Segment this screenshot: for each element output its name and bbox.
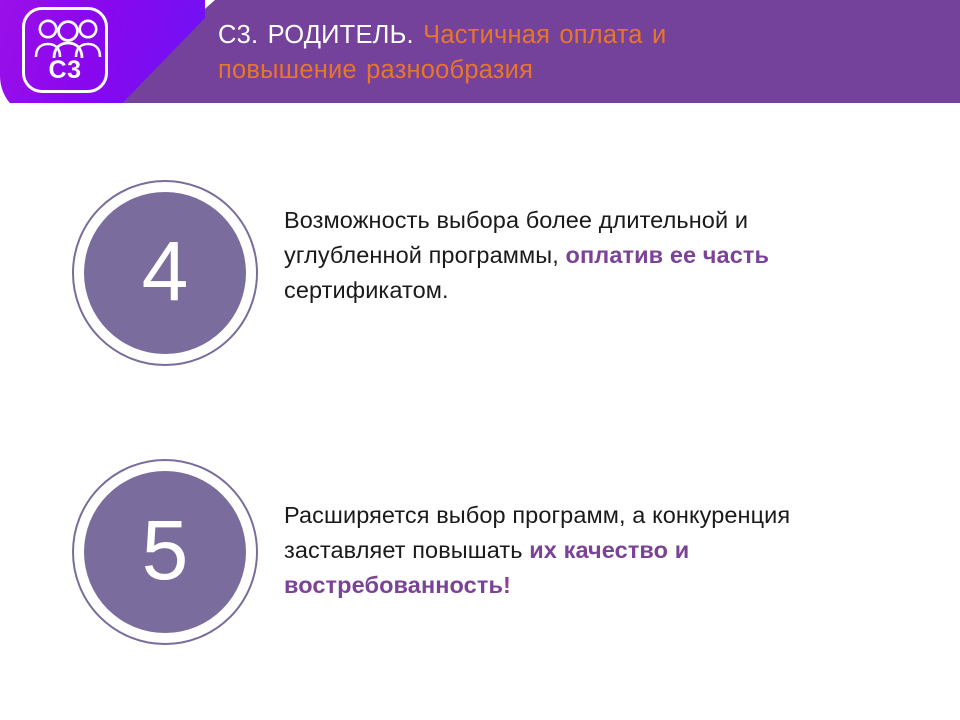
content-block-4-text: Возможность выбора более длительной и уг… [284, 203, 864, 308]
number-badge-5: 5 [72, 459, 258, 645]
number-badge-label: 5 [142, 508, 189, 592]
number-badge-disc: 4 [84, 192, 246, 354]
group-people-icon [34, 18, 102, 58]
block-5-text-part2: ! [503, 572, 511, 598]
page-title-accent-line2: повышение разнообразия [218, 56, 533, 84]
page-title-accent-line1: Частичная оплата и [423, 21, 666, 49]
number-badge-label: 4 [142, 229, 189, 313]
slide: С3 С3. РОДИТЕЛЬ. Частичная оплата и повы… [0, 0, 960, 720]
slide-header: С3 С3. РОДИТЕЛЬ. Частичная оплата и повы… [0, 0, 960, 103]
page-title-prefix: С3. РОДИТЕЛЬ. [218, 21, 423, 49]
logo-badge: С3 [22, 7, 108, 93]
block-4-text-highlight: оплатив ее часть [566, 242, 769, 268]
number-badge-disc: 5 [84, 471, 246, 633]
block-4-text-part2: сертификатом. [284, 277, 449, 303]
number-badge-4: 4 [72, 180, 258, 366]
page-title: С3. РОДИТЕЛЬ. Частичная оплата и повышен… [218, 18, 918, 88]
logo-badge-label: С3 [25, 58, 105, 83]
content-block-5-text: Расширяется выбор программ, а конкуренци… [284, 498, 884, 603]
